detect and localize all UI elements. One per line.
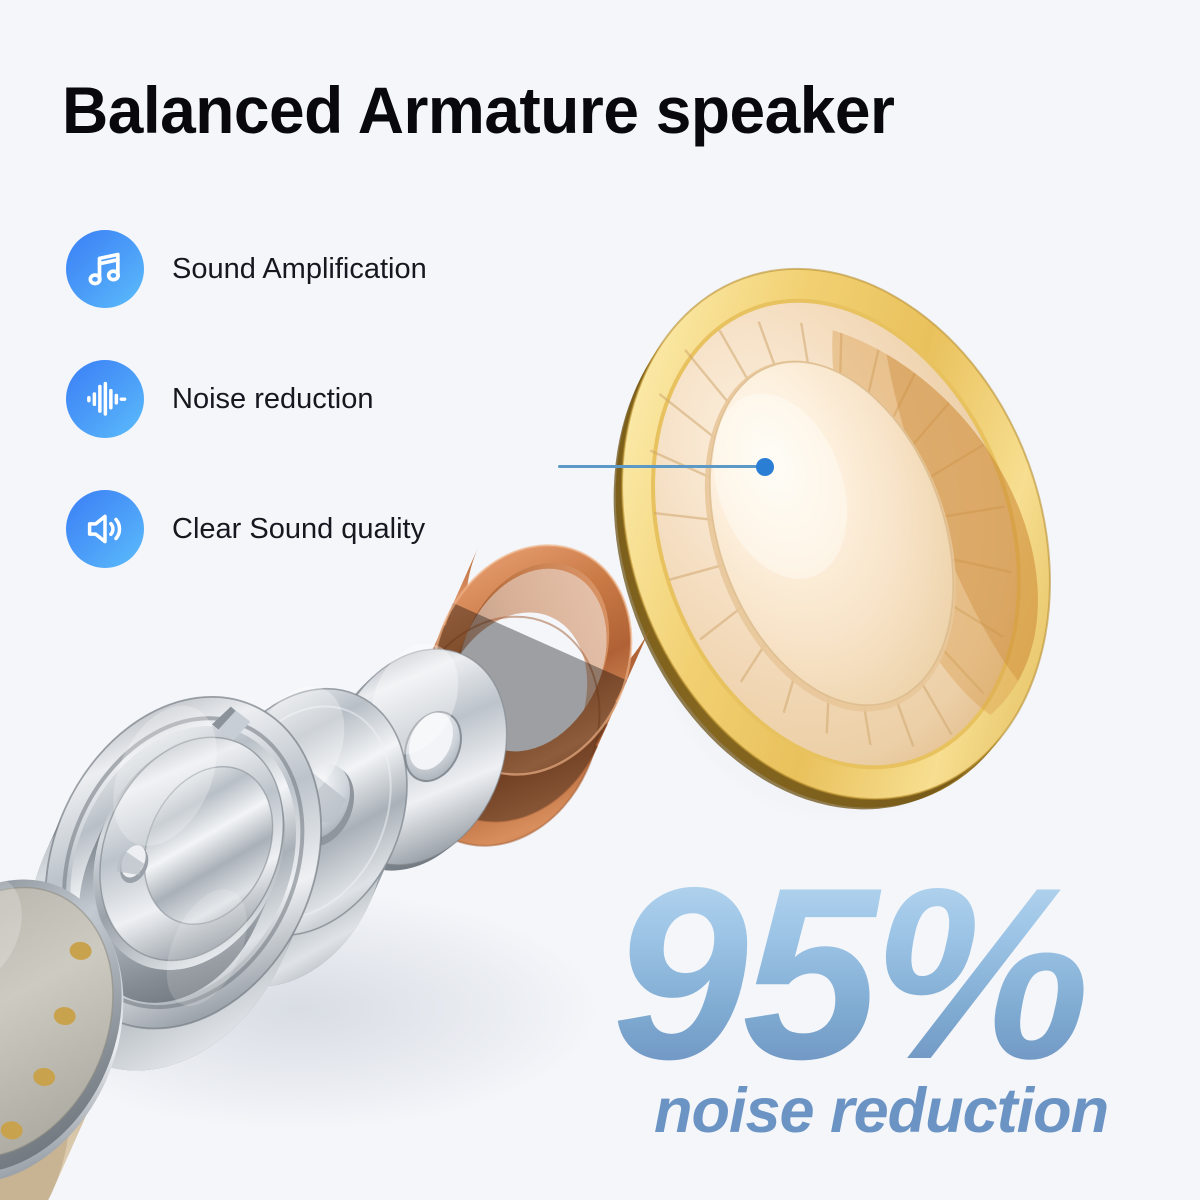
diaphragm-shadow — [630, 292, 1050, 828]
noise-reduction-stat: 95% noise reduction — [612, 868, 1172, 1147]
brass-contacts — [0, 897, 114, 1150]
chrome-housing — [0, 653, 372, 1115]
stat-caption: noise reduction — [654, 1075, 1172, 1147]
speaker-volume-icon — [66, 490, 144, 568]
silver-spool — [142, 656, 444, 1019]
feature-list: Sound Amplification Noise reduction — [66, 230, 427, 620]
product-marketing-image: Balanced Armature speaker Sound Amplific… — [0, 0, 1200, 1200]
feature-label: Clear Sound quality — [172, 513, 425, 546]
feature-item-clear-sound-quality[interactable]: Clear Sound quality — [66, 490, 427, 568]
diaphragm-callout — [558, 458, 778, 476]
feature-label: Noise reduction — [172, 383, 374, 416]
gold-diaphragm — [539, 205, 1132, 869]
silver-washer — [288, 619, 539, 901]
sound-wave-icon — [66, 360, 144, 438]
music-note-icon — [66, 230, 144, 308]
stat-number: 95% — [612, 868, 1172, 1079]
callout-line — [558, 465, 766, 468]
feature-label: Sound Amplification — [172, 253, 427, 286]
callout-dot — [756, 458, 774, 476]
driver-shadow — [0, 890, 600, 1130]
page-title: Balanced Armature speaker — [62, 72, 894, 148]
feature-item-sound-amplification[interactable]: Sound Amplification — [66, 230, 427, 308]
beige-base — [0, 839, 170, 1200]
feature-item-noise-reduction[interactable]: Noise reduction — [66, 360, 427, 438]
